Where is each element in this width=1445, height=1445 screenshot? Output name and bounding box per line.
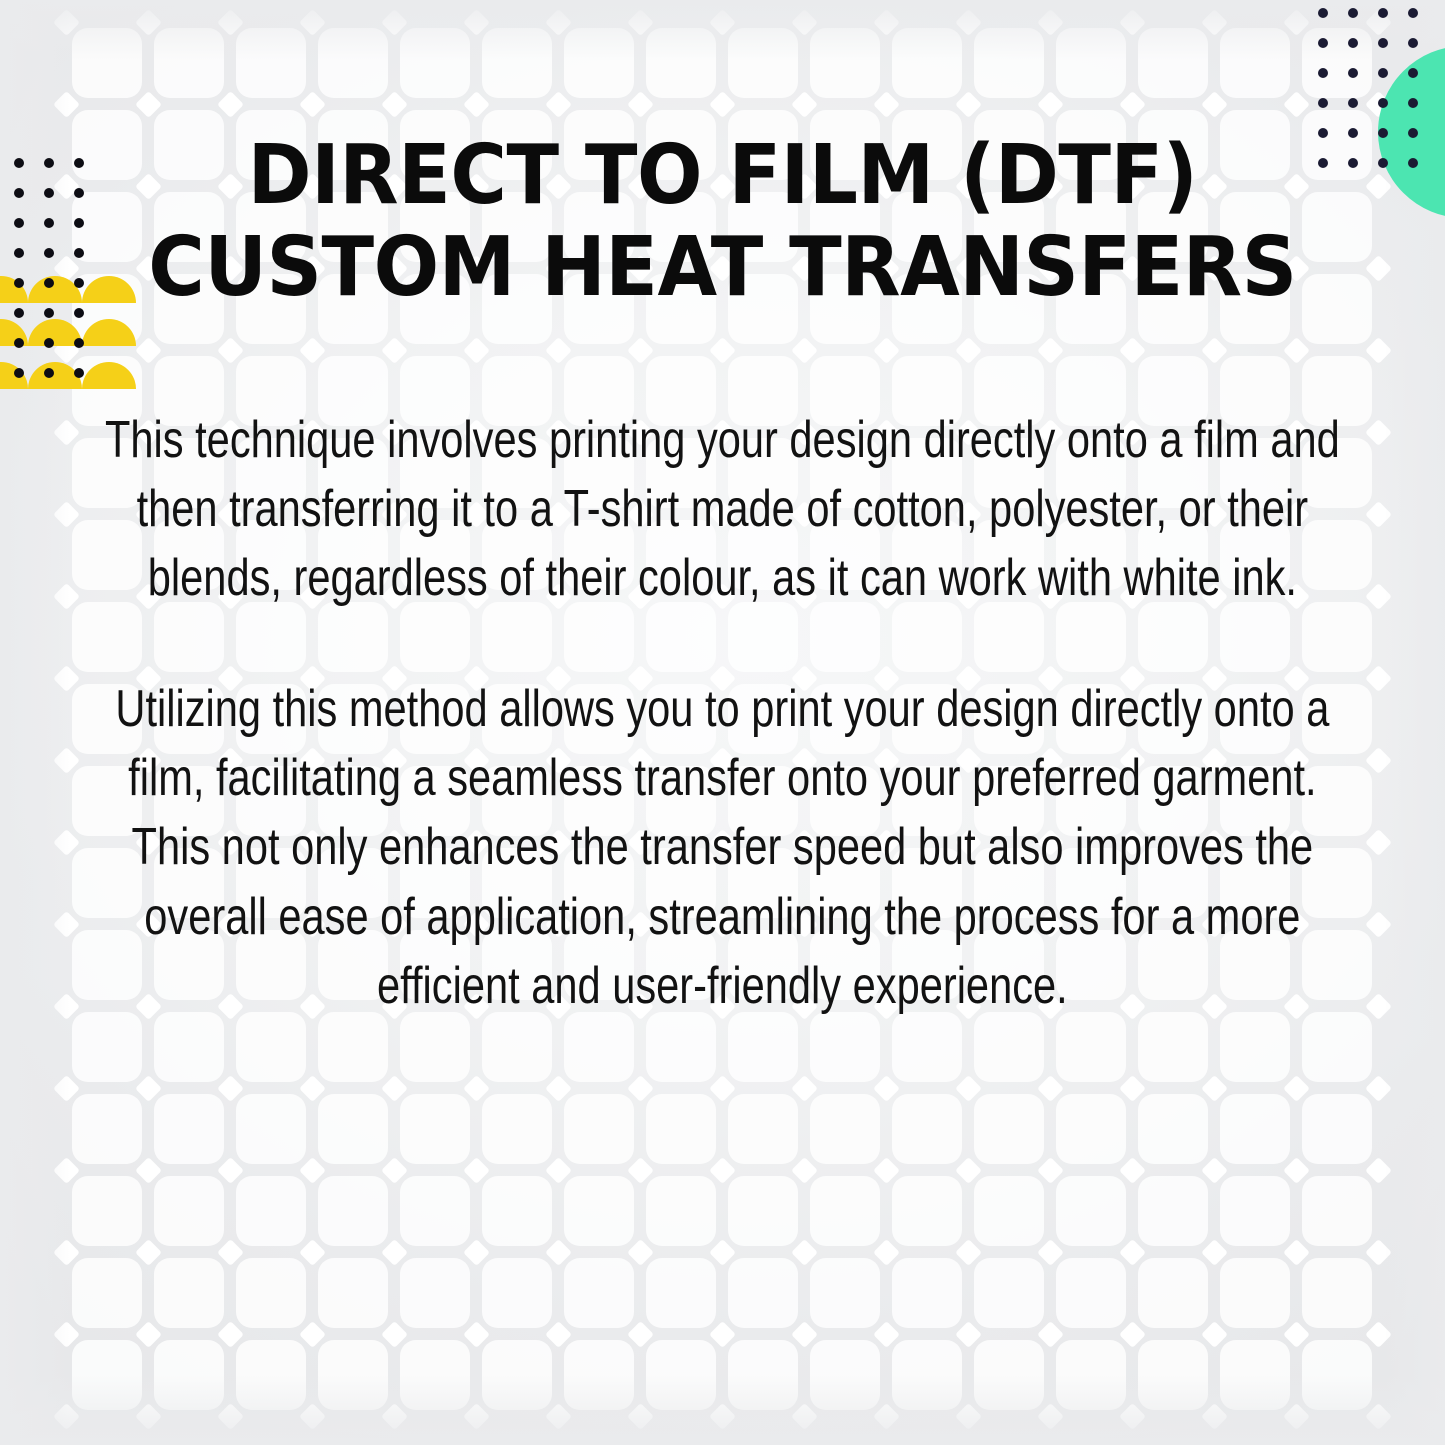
body-paragraph-1: This technique involves printing your de… — [95, 406, 1350, 613]
content-area: DIRECT TO FILM (DTF) CUSTOM HEAT TRANSFE… — [0, 0, 1445, 1445]
page-title-line-2: CUSTOM HEAT TRANSFERS — [130, 222, 1315, 314]
body-text-block: This technique involves printing your de… — [95, 406, 1350, 1021]
body-paragraph-2: Utilizing this method allows you to prin… — [95, 675, 1350, 1021]
poster-canvas: DIRECT TO FILM (DTF) CUSTOM HEAT TRANSFE… — [0, 0, 1445, 1445]
page-title-line-1: DIRECT TO FILM (DTF) — [130, 130, 1315, 222]
page-title: DIRECT TO FILM (DTF) CUSTOM HEAT TRANSFE… — [130, 130, 1315, 314]
